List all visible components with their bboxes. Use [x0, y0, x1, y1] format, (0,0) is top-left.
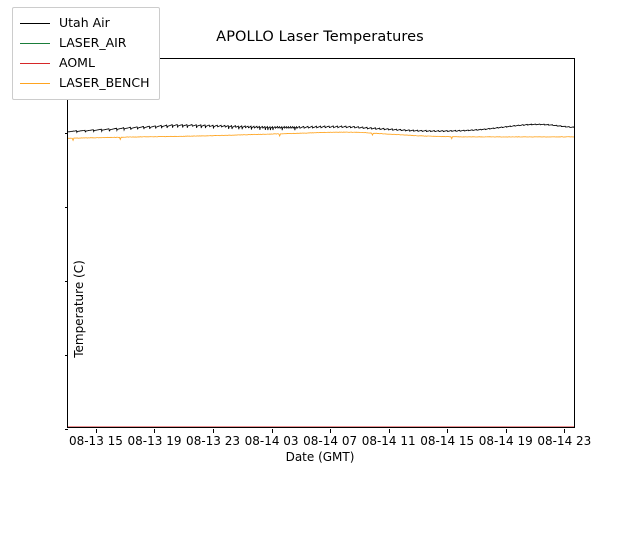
y-tick-mark	[65, 281, 69, 282]
legend-item-laser-bench[interactable]: LASER_BENCH	[20, 73, 150, 93]
legend-line-swatch	[20, 83, 50, 84]
legend-line-swatch	[20, 63, 50, 64]
x-tick-mark	[389, 429, 390, 433]
legend-item-label: LASER_AIR	[59, 37, 127, 50]
x-tick-mark	[330, 429, 331, 433]
legend-item-laser-air[interactable]: LASER_AIR	[20, 33, 150, 53]
x-axis-label: Date (GMT)	[0, 450, 640, 464]
legend-item-label: AOML	[59, 57, 95, 70]
y-tick-mark	[65, 207, 69, 208]
chart-figure: APOLLO Laser Temperatures Temperature (C…	[0, 0, 640, 480]
x-tick-label: 08-13 15	[69, 435, 123, 447]
x-tick-mark	[564, 429, 565, 433]
legend-item-utah-air[interactable]: Utah Air	[20, 13, 150, 33]
legend-line-swatch	[20, 43, 50, 44]
x-tick-mark	[447, 429, 448, 433]
x-tick-mark	[154, 429, 155, 433]
x-tick-label: 08-14 15	[420, 435, 474, 447]
x-tick-mark	[96, 429, 97, 433]
legend-item-aoml[interactable]: AOML	[20, 53, 150, 73]
series-laser-bench	[68, 132, 574, 140]
y-tick-mark	[65, 133, 69, 134]
legend-item-label: Utah Air	[59, 17, 110, 30]
legend-line-swatch	[20, 23, 50, 24]
x-tick-mark	[506, 429, 507, 433]
x-tick-mark	[213, 429, 214, 433]
plot-lines	[68, 59, 574, 427]
x-tick-label: 08-14 07	[303, 435, 357, 447]
x-tick-label: 08-14 19	[479, 435, 533, 447]
legend-item-label: LASER_BENCH	[59, 77, 150, 90]
y-axis-label: Temperature (C)	[72, 84, 86, 534]
x-tick-label: 08-14 23	[537, 435, 591, 447]
y-tick-mark	[65, 355, 69, 356]
y-tick-mark	[65, 429, 69, 430]
chart-legend: Utah AirLASER_AIRAOMLLASER_BENCH	[12, 7, 160, 100]
x-tick-mark	[272, 429, 273, 433]
series-utah-air	[68, 124, 574, 132]
plot-area: Temperature (C)051015202508-13 1508-13 1…	[67, 58, 575, 428]
x-tick-label: 08-14 11	[362, 435, 416, 447]
x-tick-label: 08-14 03	[245, 435, 299, 447]
x-tick-label: 08-13 19	[128, 435, 182, 447]
x-tick-label: 08-13 23	[186, 435, 240, 447]
